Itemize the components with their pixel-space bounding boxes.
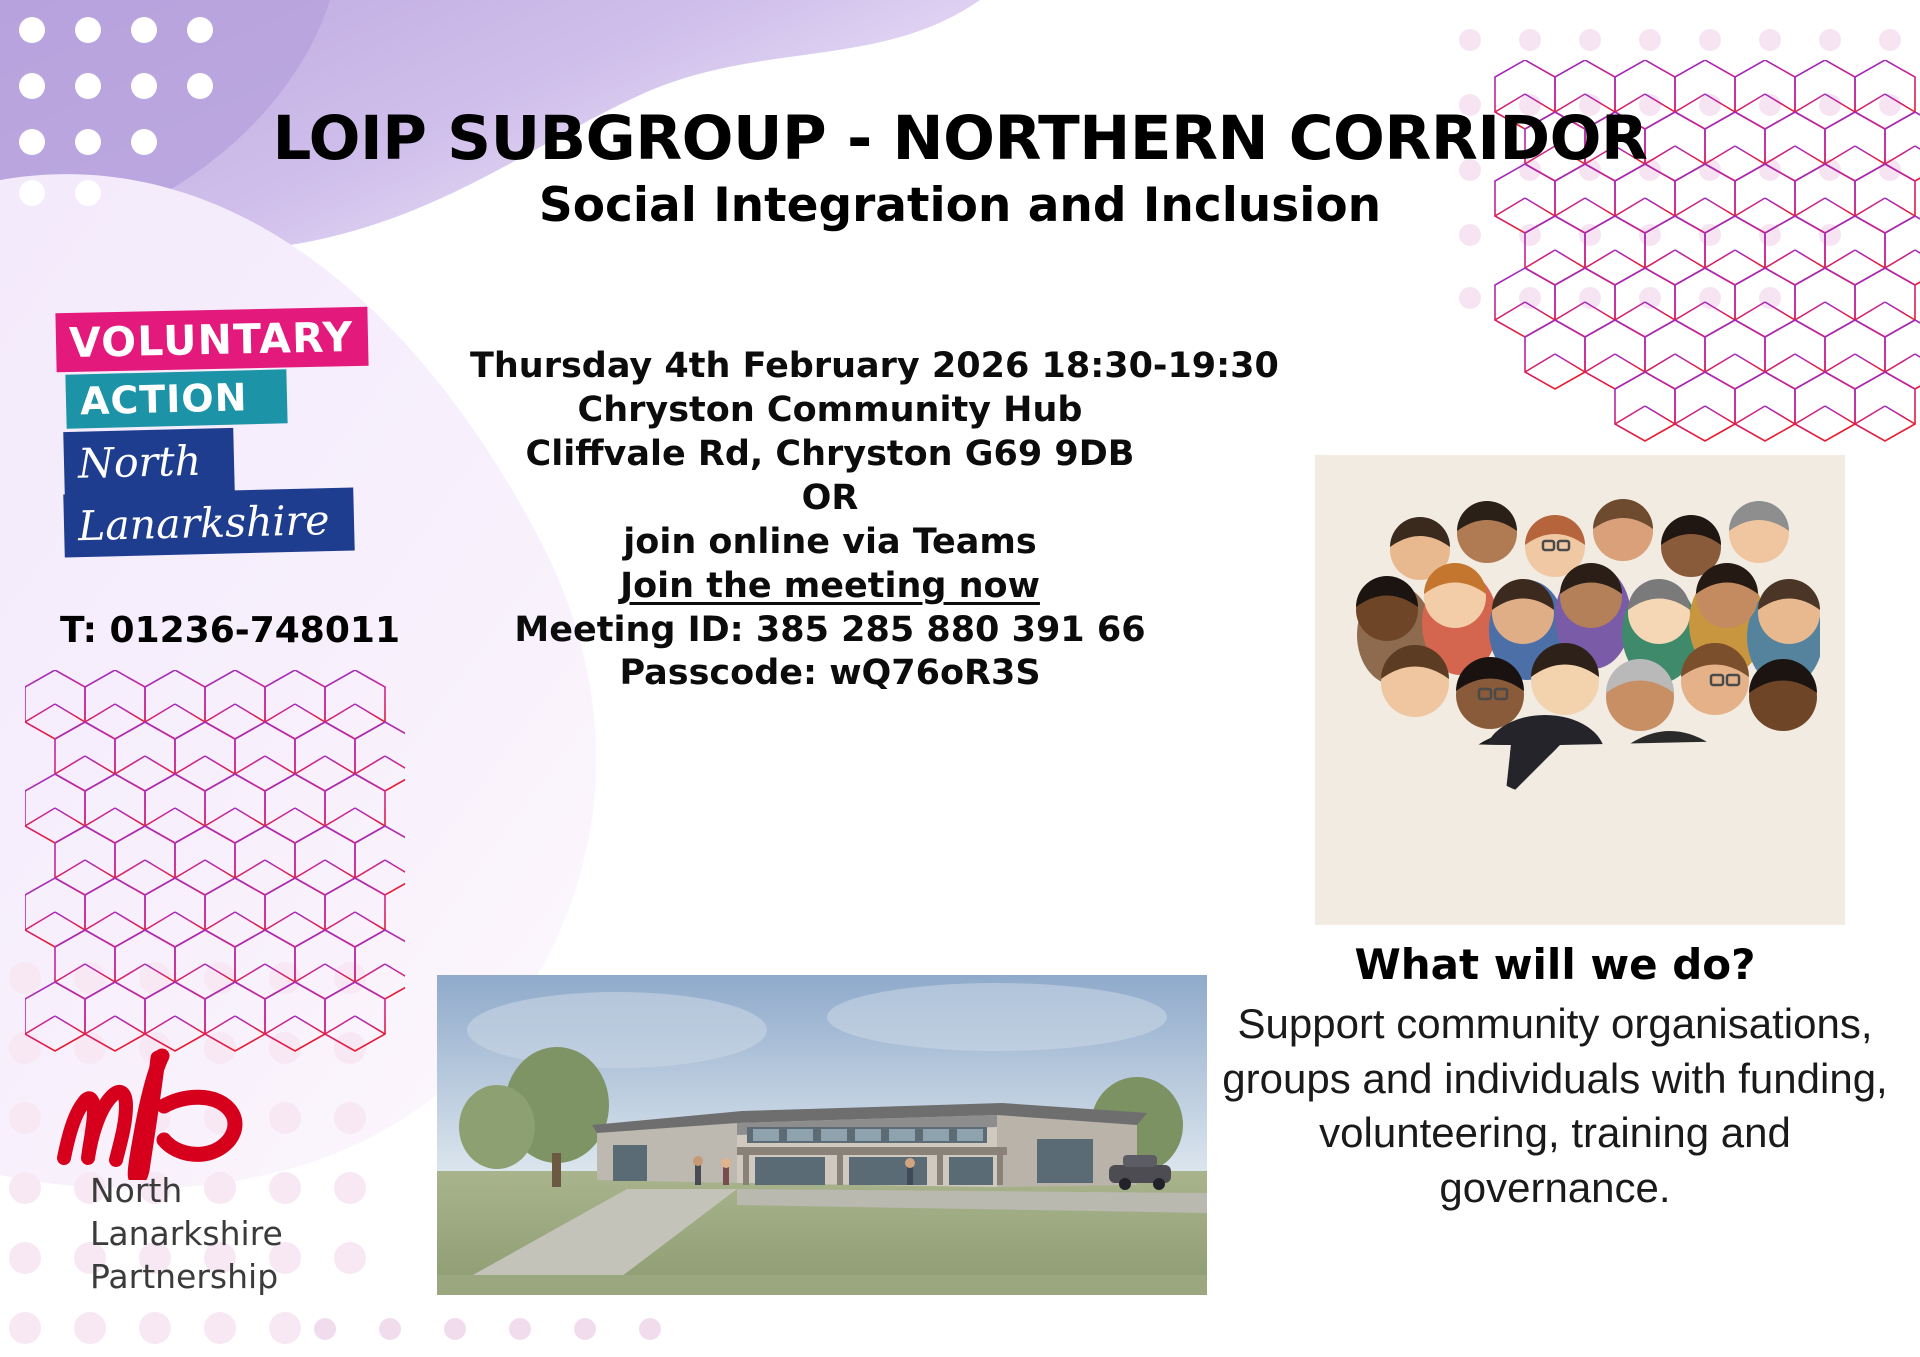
decorative-dot-row-bottom (300, 1295, 1000, 1357)
nlp-logo-line-partnership: Partnership (90, 1256, 283, 1299)
crowd-illustration-svg (1315, 455, 1845, 925)
meeting-id: Meeting ID: 385 285 880 391 66 (470, 609, 1190, 653)
nlp-logo-mark-icon (46, 1020, 336, 1180)
join-meeting-link[interactable]: Join the meeting now (470, 565, 1190, 609)
poster-header: LOIP SUBGROUP - NORTHERN CORRIDOR Social… (0, 108, 1920, 232)
nlp-logo-line-lanarkshire: Lanarkshire (90, 1213, 283, 1256)
vanl-logo-word-action: ACTION (65, 369, 287, 428)
contact-phone-number: T: 01236-748011 (60, 610, 400, 651)
meeting-venue: Chryston Community Hub (470, 389, 1190, 433)
community-hub-building-svg (437, 975, 1207, 1295)
page-title: LOIP SUBGROUP - NORTHERN CORRIDOR (0, 108, 1920, 170)
nlp-logo-line-north: North (90, 1170, 283, 1213)
vanl-logo-word-lanarkshire: Lanarkshire (63, 487, 354, 557)
what-will-we-do-body: Support community organisations, groups … (1210, 997, 1900, 1215)
what-will-we-do-section: What will we do? Support community organ… (1210, 940, 1900, 1215)
community-hub-building-image (437, 975, 1207, 1295)
crowd-illustration-image (1315, 455, 1845, 925)
meeting-details-block: Thursday 4th February 2026 18:30-19:30 C… (470, 345, 1190, 696)
meeting-datetime: Thursday 4th February 2026 18:30-19:30 (470, 345, 1190, 389)
meeting-address: Cliffvale Rd, Chryston G69 9DB (470, 433, 1190, 477)
meeting-online-label: join online via Teams (470, 521, 1190, 565)
voluntary-action-north-lanarkshire-logo: VOLUNTARY ACTION North Lanarkshire (52, 310, 382, 580)
what-will-we-do-heading: What will we do? (1210, 940, 1900, 989)
page-subtitle: Social Integration and Inclusion (0, 180, 1920, 232)
north-lanarkshire-partnership-logo: North Lanarkshire Partnership (38, 1020, 338, 1350)
meeting-passcode: Passcode: wQ76oR3S (470, 652, 1190, 696)
vanl-logo-word-north: North (63, 428, 234, 495)
vanl-logo-word-voluntary: VOLUNTARY (55, 307, 368, 373)
nlp-logo-wordmark: North Lanarkshire Partnership (90, 1170, 283, 1299)
decorative-isometric-cube-pattern-left (25, 670, 405, 1070)
meeting-or-label: OR (470, 477, 1190, 521)
